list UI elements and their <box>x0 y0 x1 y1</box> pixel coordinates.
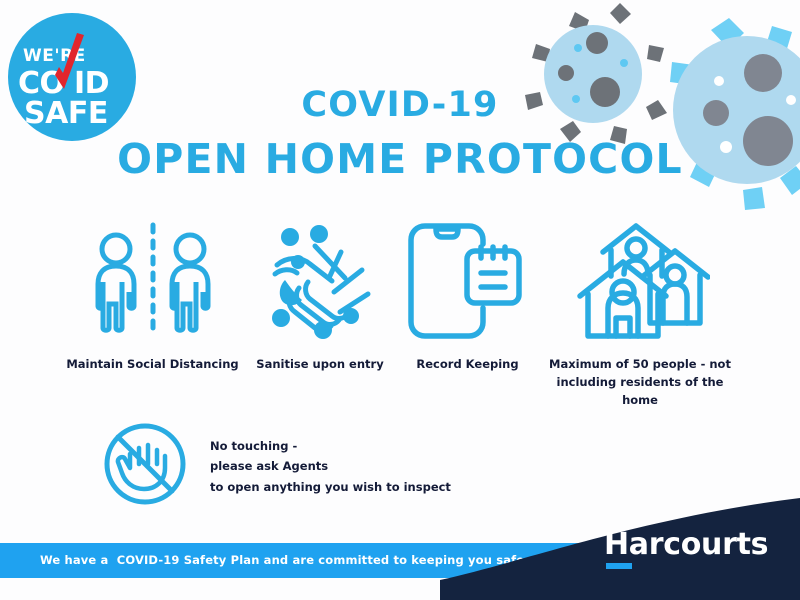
protocol-item-max-people: Maximum of 50 people - not including res… <box>540 222 740 409</box>
title-block: COVID-19 OPEN HOME PROTOCOL <box>0 88 800 180</box>
hand-sanitiser-icon <box>255 222 385 340</box>
no-touching-row: No touching - please ask Agents to open … <box>101 420 451 513</box>
poster-canvas: WE'RE CO ID SAFE COVID-19 OPEN HOME PROT… <box>0 0 800 600</box>
protocol-item-social-distancing: Maintain Social Distancing <box>60 222 245 374</box>
social-distancing-icon <box>78 222 228 340</box>
no-touching-text: No touching - please ask Agents to open … <box>210 436 451 497</box>
harcourts-logo-underline <box>606 563 632 569</box>
protocol-label: Sanitise upon entry <box>256 356 383 374</box>
protocol-label: Maintain Social Distancing <box>66 356 238 374</box>
protocol-icon-row: Maintain Social Distancing <box>60 222 740 409</box>
protocol-item-sanitise: Sanitise upon entry <box>245 222 395 374</box>
protocol-item-record-keeping: Record Keeping <box>395 222 540 374</box>
page-title-primary: COVID-19 <box>0 88 800 123</box>
page-title-secondary: OPEN HOME PROTOCOL <box>0 139 800 180</box>
houses-people-icon <box>570 222 710 340</box>
no-touching-icon <box>101 420 189 513</box>
protocol-label: Record Keeping <box>416 356 518 374</box>
phone-record-keeping-icon <box>405 222 530 340</box>
harcourts-logo: Harcourts <box>604 527 768 562</box>
protocol-label: Maximum of 50 people - not including res… <box>540 356 740 409</box>
